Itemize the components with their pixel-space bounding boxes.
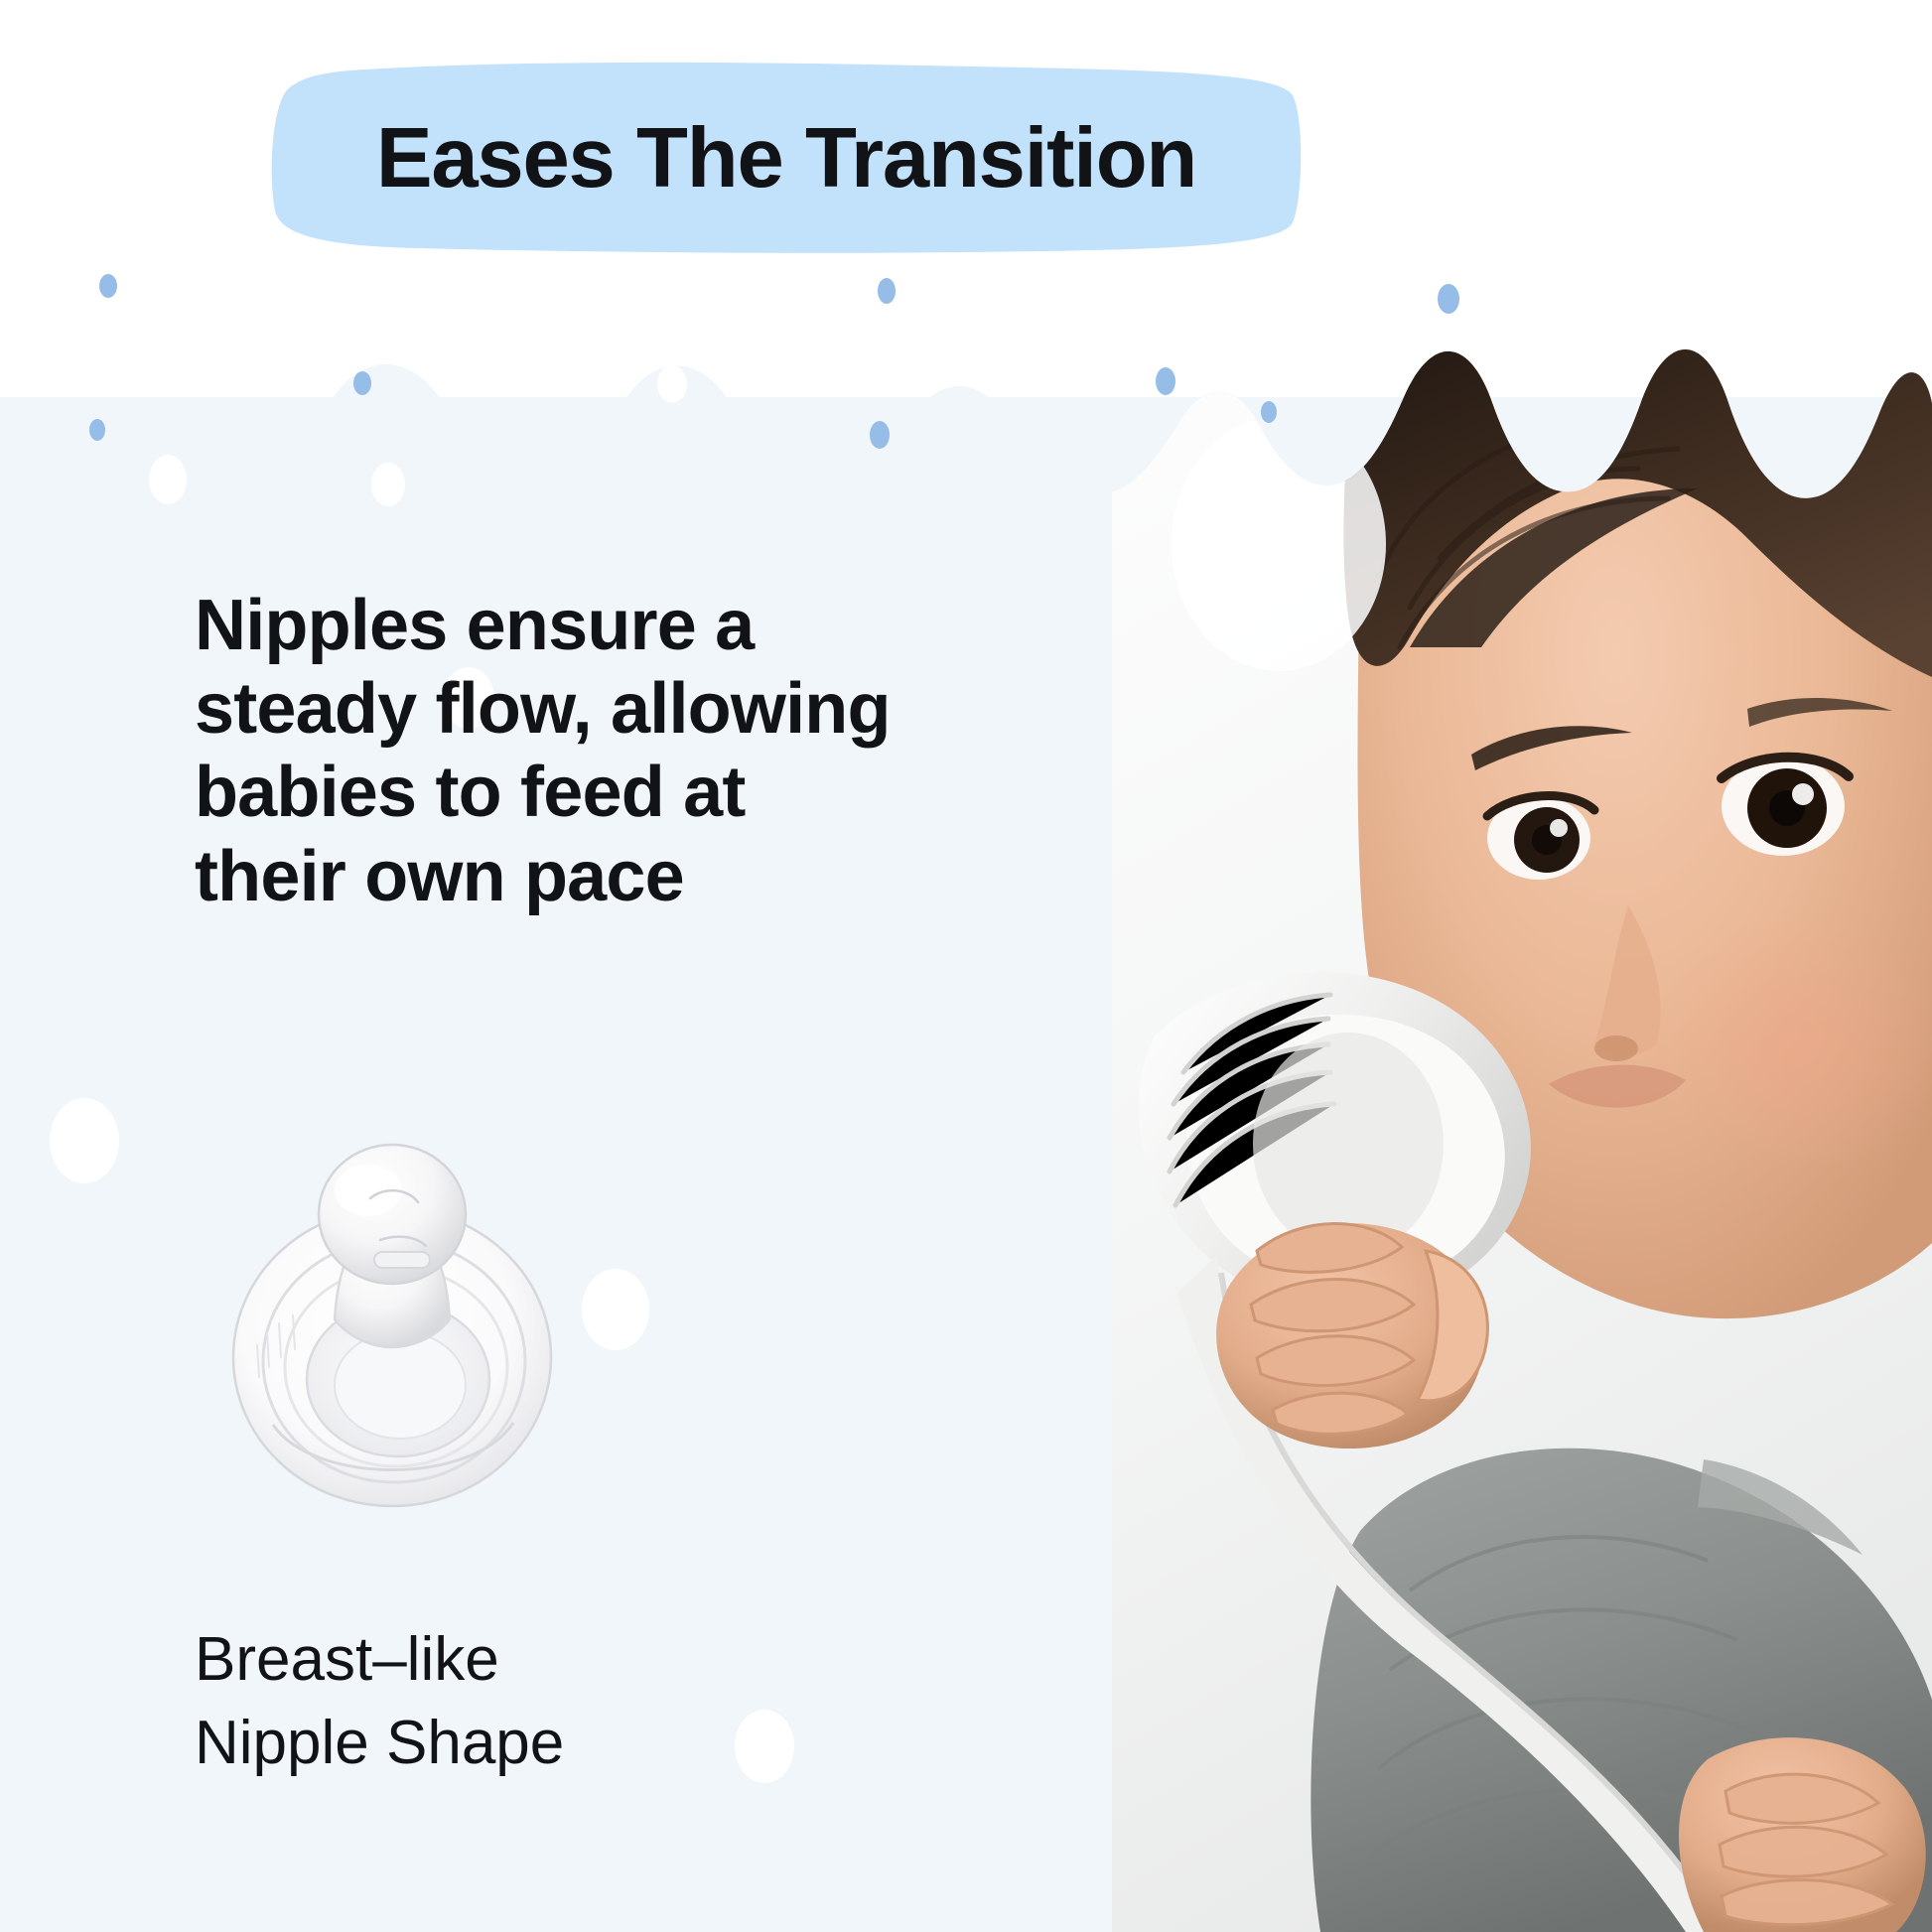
product-infographic-canvas: Eases The Transition Nipples ensure a st… [0,0,1932,1932]
decor-bubble [582,1269,649,1350]
decor-dot [89,419,105,441]
nipple-product-image [204,1107,581,1524]
decor-bubble [50,1098,119,1183]
decor-bubble [657,365,687,403]
product-caption-line: Nipple Shape [195,1702,751,1785]
decor-dot [353,371,371,395]
feature-description-line: babies to feed at [195,751,1068,834]
decor-dot [878,278,896,304]
decor-dot [99,274,117,298]
feature-description-line: Nipples ensure a [195,584,1068,667]
page-title: Eases The Transition [270,62,1303,255]
baby-photo-clip [1112,349,1932,1932]
baby-photo [1112,349,1932,1932]
baby-photo-content [1112,349,1932,1932]
feature-description: Nipples ensure a steady flow, allowing b… [195,584,1068,918]
product-caption-line: Breast–like [195,1618,751,1702]
decor-dot [1438,284,1459,314]
feature-description-line: their own pace [195,835,1068,918]
decor-dot [870,421,890,449]
product-caption: Breast–like Nipple Shape [195,1618,751,1784]
decor-bubble [149,455,187,504]
decor-bubble [371,463,405,506]
feature-description-line: steady flow, allowing [195,667,1068,751]
